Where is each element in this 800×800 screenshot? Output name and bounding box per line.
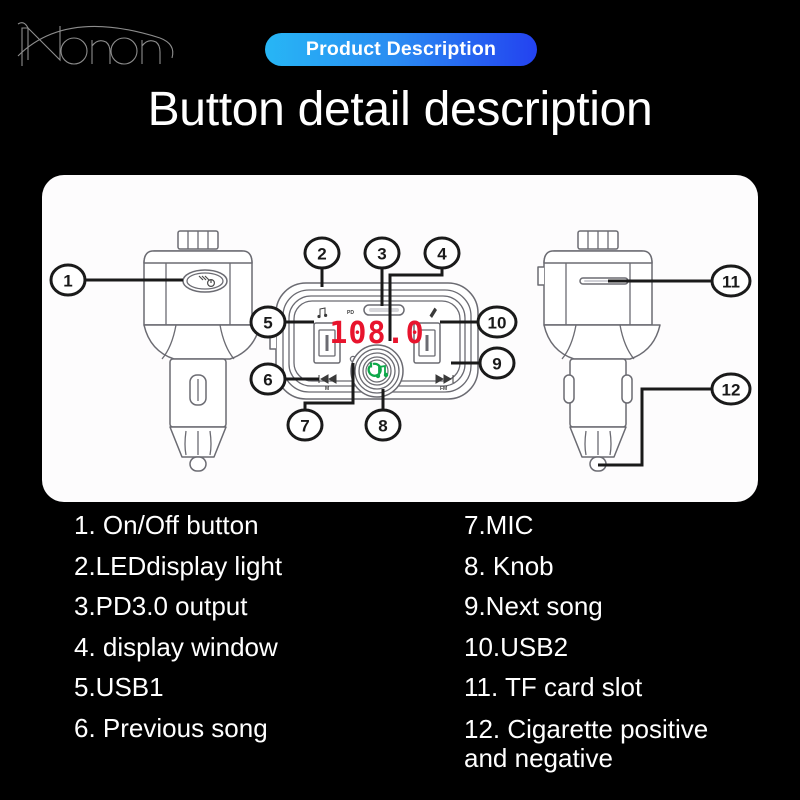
svg-text:3: 3	[377, 245, 386, 264]
legend-item: 9.Next song	[464, 593, 794, 619]
svg-text:11: 11	[722, 273, 740, 292]
legend-item: 10.USB2	[464, 634, 794, 660]
legend-item: 4. display window	[74, 634, 454, 660]
callout-8: 8	[366, 410, 400, 440]
callout-2: 2	[305, 238, 339, 268]
legend-item: 11. TF card slot	[464, 674, 794, 700]
center-device-top-view: PD 108.0	[270, 283, 478, 399]
left-device-front-view	[144, 231, 260, 471]
svg-text:9: 9	[492, 355, 501, 374]
legend-item: 7.MIC	[464, 512, 794, 538]
diagram-panel: .ol { fill:#fff; stroke:#6b6b72; stroke-…	[42, 175, 758, 502]
legend-column-left: 1. On/Off button 2.LEDdisplay light 3.PD…	[74, 512, 454, 755]
page-title: Button detail description	[0, 82, 800, 137]
svg-text:M: M	[325, 386, 329, 392]
legend: 1. On/Off button 2.LEDdisplay light 3.PD…	[0, 512, 800, 800]
side-contact-right	[622, 375, 632, 403]
callout-9: 9	[480, 348, 514, 378]
callout-11: 11	[712, 266, 750, 296]
svg-text:FM: FM	[440, 386, 447, 392]
legend-item: 12. Cigarette positive and negative	[464, 715, 794, 773]
legend-item: 3.PD3.0 output	[74, 593, 454, 619]
legend-column-right: 7.MIC 8. Knob 9.Next song 10.USB2 11. TF…	[464, 512, 794, 787]
svg-text:8: 8	[378, 417, 387, 436]
callout-3: 3	[365, 238, 399, 268]
legend-item: 5.USB1	[74, 674, 454, 700]
legend-item: 1. On/Off button	[74, 512, 454, 538]
legend-item: 6. Previous song	[74, 715, 454, 741]
svg-text:6: 6	[263, 371, 272, 390]
legend-item: 2.LEDdisplay light	[74, 553, 454, 579]
svg-text:2: 2	[317, 245, 326, 264]
svg-text:10: 10	[488, 314, 507, 333]
callout-12: 12	[712, 374, 750, 404]
svg-text:7: 7	[300, 417, 309, 436]
svg-text:1: 1	[63, 272, 72, 291]
svg-text:4: 4	[437, 245, 447, 264]
badge-label: Product Description	[306, 40, 496, 60]
brand-logo	[14, 10, 194, 72]
product-description-badge: Product Description	[265, 33, 537, 66]
legend-item: 8. Knob	[464, 553, 794, 579]
callout-6: 6	[251, 364, 285, 394]
callout-7: 7	[288, 410, 322, 440]
product-description-page: Product Description Button detail descri…	[0, 0, 800, 800]
svg-text:5: 5	[263, 314, 272, 333]
callout-4: 4	[425, 238, 459, 268]
side-contact-left	[564, 375, 574, 403]
svg-text:12: 12	[722, 381, 741, 400]
knob	[351, 345, 403, 397]
callout-1: 1	[51, 265, 85, 295]
callout-5: 5	[251, 307, 285, 337]
callout-10: 10	[478, 307, 516, 337]
